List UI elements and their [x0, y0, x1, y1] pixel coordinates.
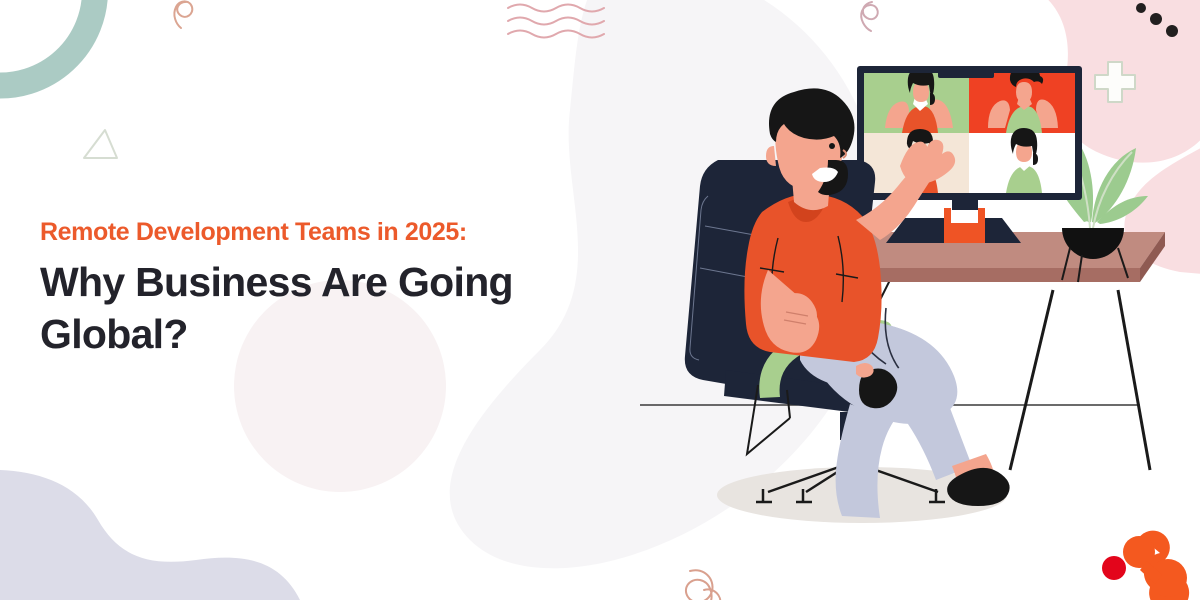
eyebrow-text: Remote Development Teams in 2025: — [40, 218, 620, 247]
headline-block: Remote Development Teams in 2025: Why Bu… — [40, 218, 620, 361]
page-title: Why Business Are Going Global? — [40, 256, 620, 361]
blog-banner: Remote Development Teams in 2025: Why Bu… — [0, 0, 1200, 600]
page-title-line-2: Global? — [40, 311, 188, 357]
webcam-notch — [938, 66, 994, 78]
monitor-screen — [864, 66, 1075, 193]
page-title-line-1: Why Business Are Going — [40, 259, 513, 305]
